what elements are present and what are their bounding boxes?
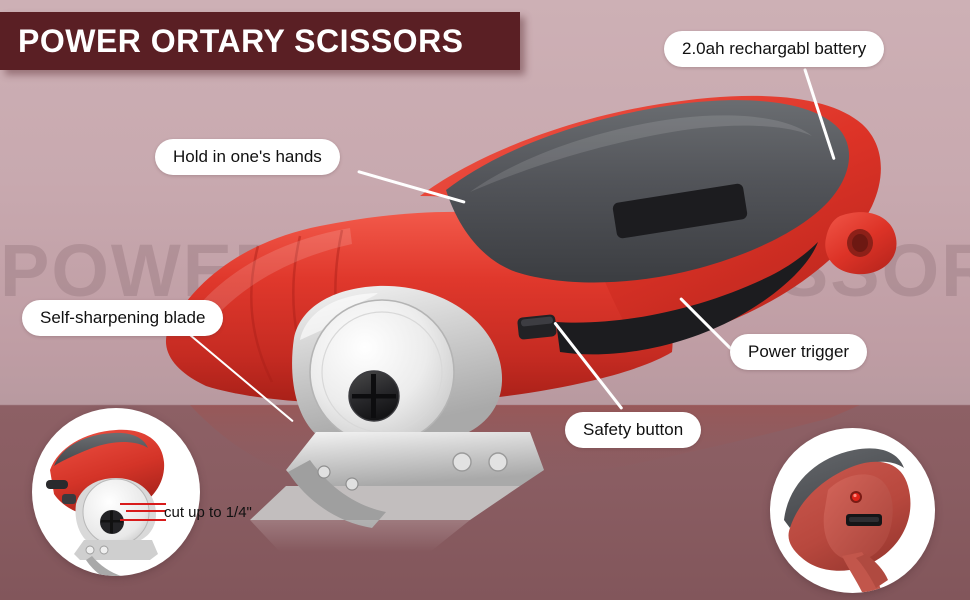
hang-loop [825,212,896,274]
battery-label-panel [612,183,748,239]
title-banner: POWER ORTARY SCISSORS [0,12,520,70]
measure-line-bottom [120,519,166,521]
blade-base-plate [286,432,544,486]
base-rivet [453,453,471,471]
leader-line-safety [553,321,623,410]
leader-line-blade [187,332,294,422]
callout-battery-label: 2.0ah rechargabl battery [682,39,866,59]
callout-blade-label: Self-sharpening blade [40,308,205,328]
blade-hub [349,371,399,421]
callout-hold[interactable]: Hold in one's hands [155,139,340,175]
blade-guard [292,286,502,436]
callout-hold-label: Hold in one's hands [173,147,322,167]
leader-line-hold [357,170,465,204]
leader-line-battery [803,68,836,160]
callout-safety[interactable]: Safety button [565,412,701,448]
leader-line-trigger [679,297,732,350]
callout-trigger[interactable]: Power trigger [730,334,867,370]
callout-safety-label: Safety button [583,420,683,440]
charge-led [852,493,860,501]
product-handle-shell [420,96,881,350]
measure-line-lead-top [126,510,166,512]
base-rivet [489,453,507,471]
callout-trigger-label: Power trigger [748,342,849,362]
cutting-hook [288,460,386,528]
measure-line-top [120,503,166,505]
product-infographic: POWER ORTARY SCISSORS [0,0,970,600]
safety-button [517,314,557,340]
callout-blade[interactable]: Self-sharpening blade [22,300,223,336]
cut-depth-label: cut up to 1/4" [164,504,252,521]
charging-port-inset[interactable] [770,428,935,593]
callout-battery[interactable]: 2.0ah rechargabl battery [664,31,884,67]
rotary-blade [310,300,454,444]
blade-depth-inset[interactable] [32,408,200,576]
product-grip [446,100,849,282]
page-title: POWER ORTARY SCISSORS [0,23,464,60]
